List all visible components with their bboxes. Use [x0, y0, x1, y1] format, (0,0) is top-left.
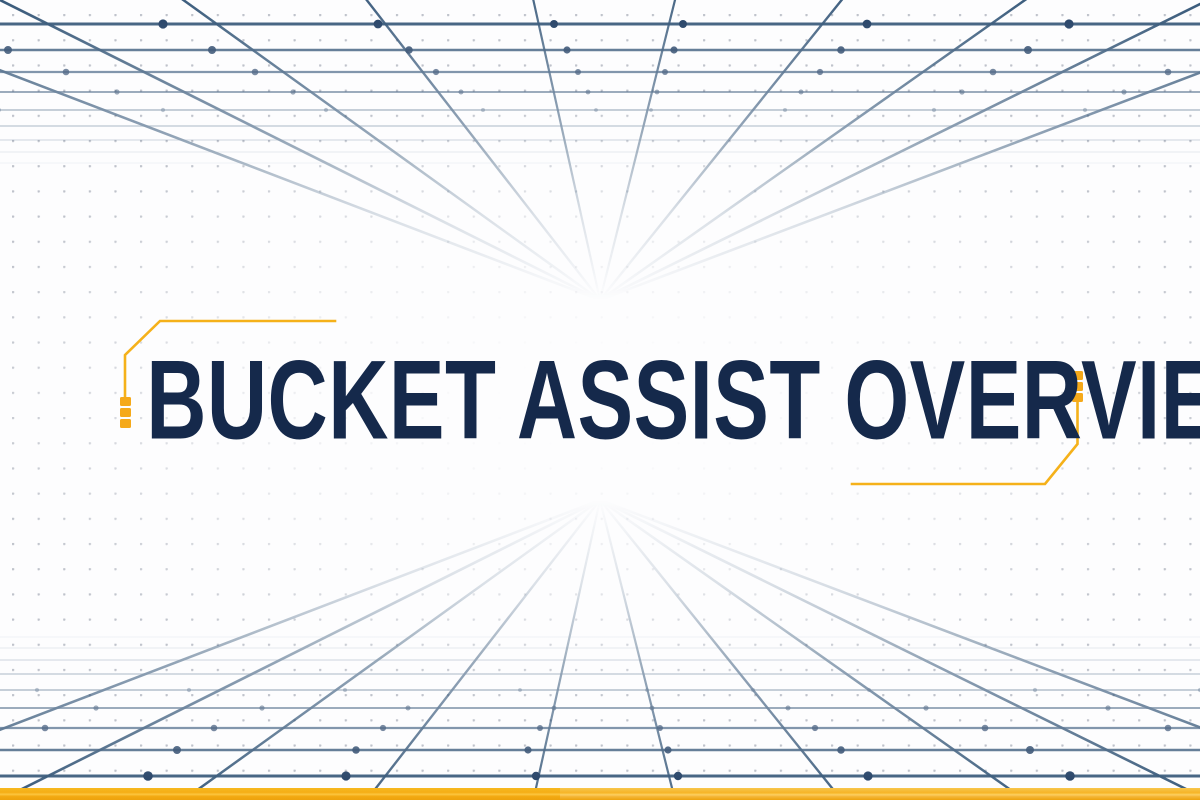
- perspective-grid-ceiling: [0, 0, 1200, 300]
- page-title: BUCKET ASSIST OVERVIEW: [0, 343, 1200, 456]
- amber-bottom-bar-sheen: [560, 788, 1200, 800]
- perspective-grid-floor: [0, 500, 1200, 800]
- slide-canvas: BUCKET ASSIST OVERVIEW: [0, 0, 1200, 800]
- title-block: BUCKET ASSIST OVERVIEW: [0, 344, 1200, 454]
